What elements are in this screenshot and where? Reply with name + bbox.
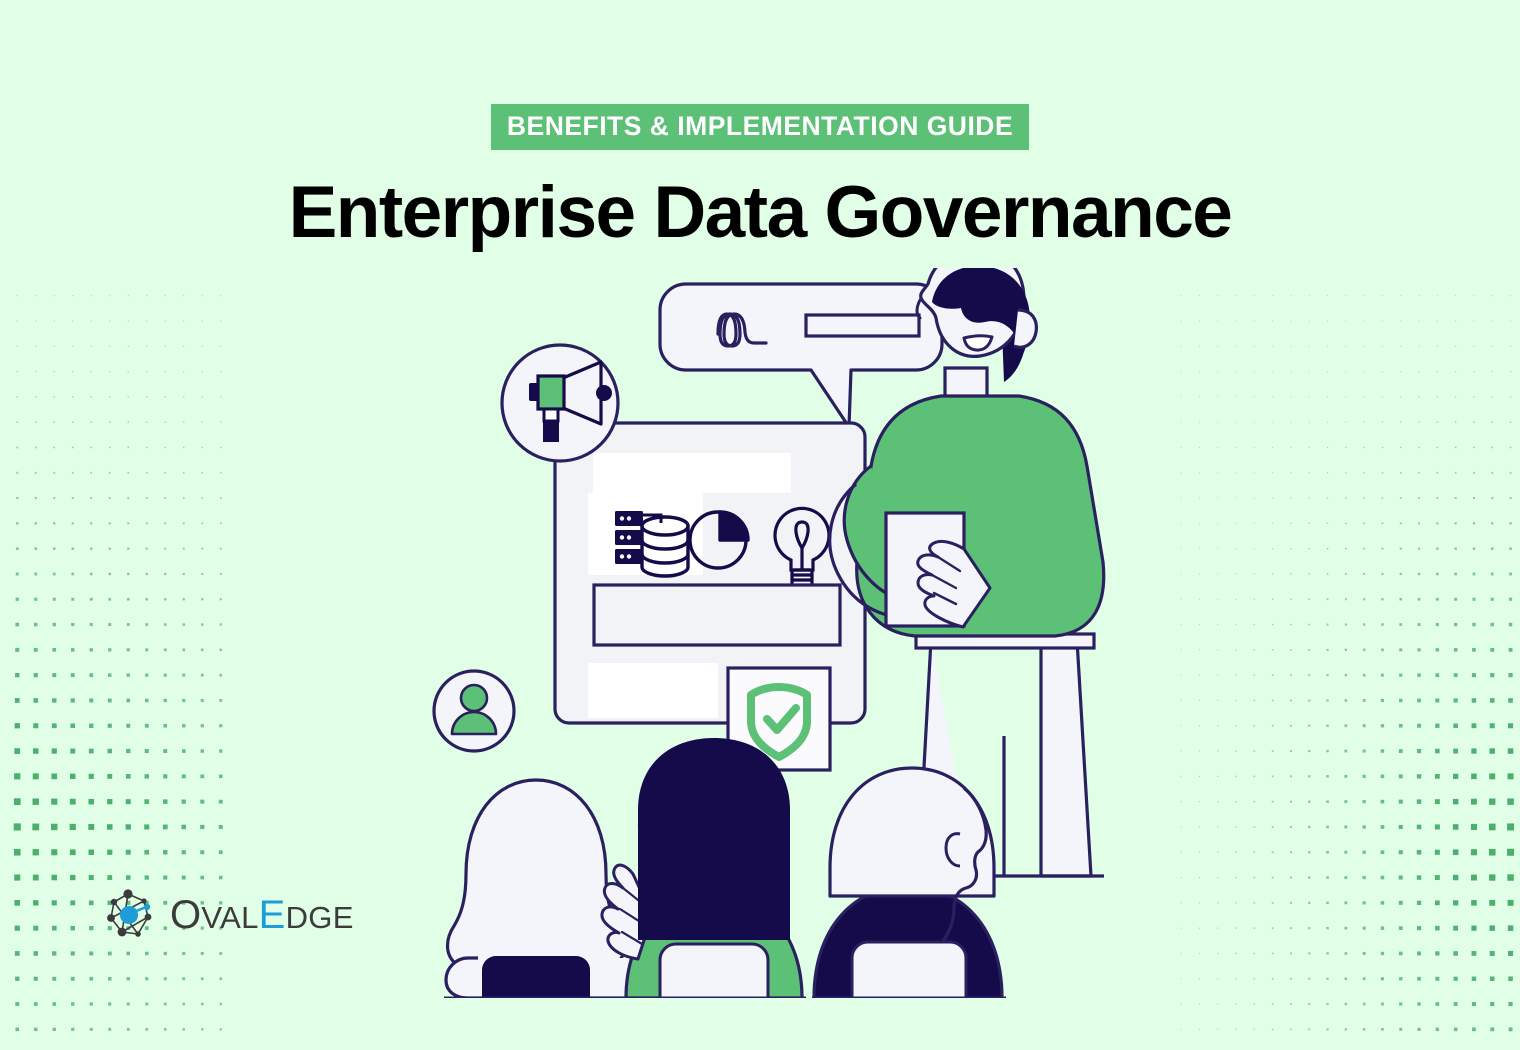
hero-illustration <box>408 268 1128 998</box>
network-nodes-icon <box>104 888 158 942</box>
input-field-placeholder <box>594 585 840 645</box>
wordmark-val: VAL <box>201 902 258 933</box>
audience-member-center <box>602 738 806 998</box>
wordmark-dge: DGE <box>286 902 354 933</box>
page-title: Enterprise Data Governance <box>0 176 1520 249</box>
dashboard-board <box>555 423 865 770</box>
megaphone-badge <box>502 345 618 461</box>
brand-logo[interactable]: OVALEDGE <box>104 888 354 942</box>
wordmark-o: O <box>170 895 201 935</box>
poster-canvas: BENEFITS & IMPLEMENTATION GUIDE Enterpri… <box>0 0 1520 1050</box>
user-avatar-badge <box>434 671 514 751</box>
wordmark-e: E <box>259 895 286 935</box>
speech-bubble <box>660 284 942 427</box>
halftone-pattern-right <box>1172 283 1520 1043</box>
header: BENEFITS & IMPLEMENTATION GUIDE Enterpri… <box>0 0 1520 249</box>
eyebrow-badge: BENEFITS & IMPLEMENTATION GUIDE <box>491 104 1029 150</box>
audience-member-right <box>812 768 1006 998</box>
brand-wordmark: OVALEDGE <box>170 895 354 935</box>
